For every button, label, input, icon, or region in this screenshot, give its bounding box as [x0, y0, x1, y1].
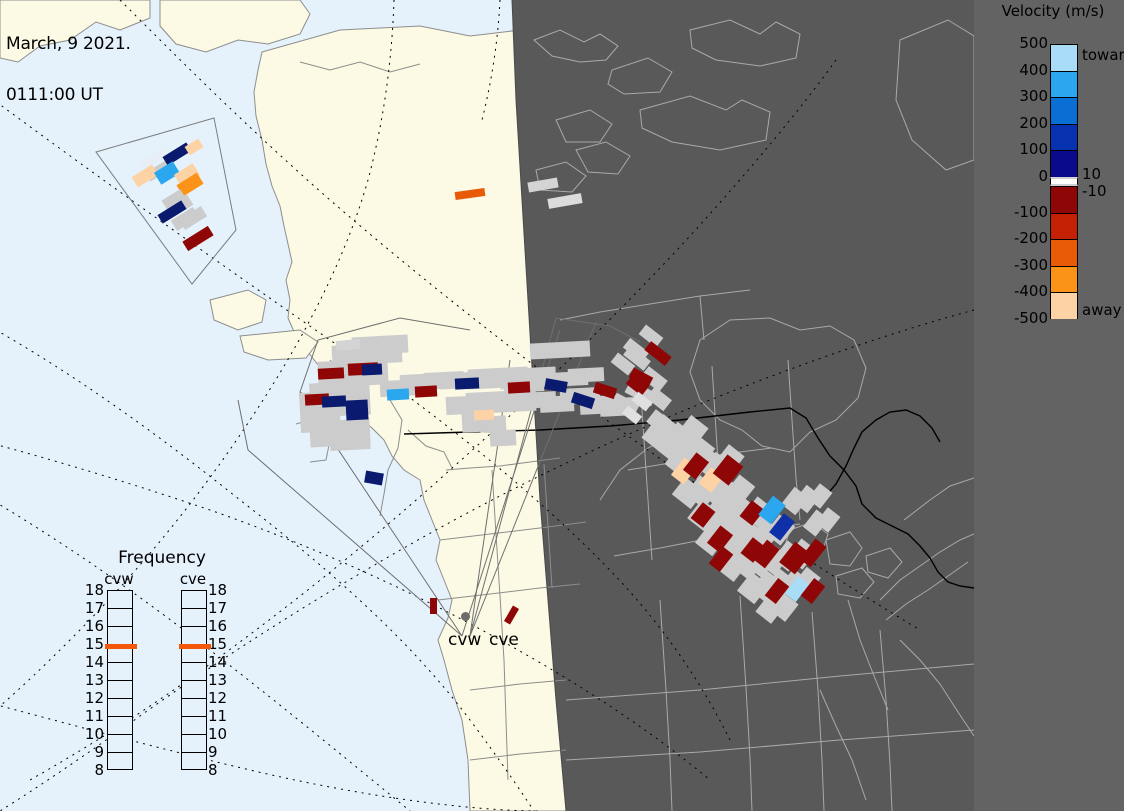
- frequency-tick-17: 17: [84, 601, 104, 616]
- frequency-tick-10: 10: [208, 727, 228, 742]
- frequency-ticks-cve: 18171615141312111098: [208, 590, 228, 770]
- frequency-scale-cve[interactable]: [181, 590, 207, 770]
- frequency-tick-13: 13: [84, 673, 104, 688]
- radar-label-cvw: cvw: [448, 630, 481, 650]
- title-time: 0111:00 UT: [6, 87, 131, 104]
- colorbar-panel: Velocity (m/s) 5004003002001000-100-200-…: [974, 0, 1124, 811]
- velocity-gate-cell[interactable]: [430, 598, 437, 614]
- colorbar-tick--400: -400: [984, 284, 1048, 299]
- colorbar-band-150: [1050, 124, 1078, 151]
- colorbar-band--350: [1050, 266, 1078, 293]
- frequency-tick-12: 12: [208, 691, 228, 706]
- colorbar-band--50: [1050, 186, 1078, 213]
- colorbar-tick-0: 0: [984, 169, 1048, 184]
- map-panel[interactable]: cvw cve Frequency cvw: [0, 0, 974, 811]
- frequency-tick-14: 14: [208, 655, 228, 670]
- colorbar-band-50: [1050, 150, 1078, 177]
- velocity-gate-cell[interactable]: [415, 385, 438, 397]
- colorbar-side-labels: toward10-10away: [1082, 0, 1124, 811]
- colorbar-inner-pos-label: 10: [1082, 167, 1101, 182]
- colorbar-band-450: [1050, 44, 1078, 71]
- colorbar-tick-400: 400: [984, 63, 1048, 78]
- colorbar-tick-300: 300: [984, 89, 1048, 104]
- velocity-gate-cell[interactable]: [474, 409, 494, 420]
- colorbar-tick-500: 500: [984, 36, 1048, 51]
- frequency-ticks-cvw: 18171615141312111098: [84, 590, 104, 770]
- frequency-tick-15: 15: [84, 637, 104, 652]
- frequency-tick-15: 15: [208, 637, 228, 652]
- colorbar-tick--200: -200: [984, 231, 1048, 246]
- velocity-gate-cell[interactable]: [322, 395, 347, 407]
- colorbar-tick--500: -500: [984, 311, 1048, 326]
- frequency-tick-13: 13: [208, 673, 228, 688]
- frequency-tick-18: 18: [84, 583, 104, 598]
- frequency-tick-14: 14: [84, 655, 104, 670]
- frequency-tick-17: 17: [208, 601, 228, 616]
- colorbar-toward-label: toward: [1082, 48, 1124, 63]
- radar-label-cve: cve: [489, 630, 519, 650]
- frequency-column-cvw: cvw 18171615141312111098: [86, 570, 152, 798]
- frequency-legend: Frequency cvw 18171615141312111098: [86, 548, 238, 798]
- colorbar-band-250: [1050, 97, 1078, 124]
- frequency-tick-8: 8: [84, 763, 104, 778]
- frequency-tick-8: 8: [208, 763, 228, 778]
- frequency-tick-18: 18: [208, 583, 228, 598]
- title-date: March, 9 2021.: [6, 36, 131, 53]
- colorbar-band--250: [1050, 239, 1078, 266]
- colorbar-inner-neg-label: -10: [1082, 184, 1107, 199]
- frequency-tick-11: 11: [208, 709, 228, 724]
- frequency-tick-16: 16: [208, 619, 228, 634]
- frequency-legend-title: Frequency: [86, 548, 238, 568]
- colorbar-band-350: [1050, 71, 1078, 98]
- velocity-gate-cell[interactable]: [318, 367, 345, 379]
- superdarn-fan-plot: cvw cve Frequency cvw: [0, 0, 1124, 811]
- velocity-gate-cell[interactable]: [362, 363, 383, 375]
- frequency-column-cve: cve 18171615141312111098: [160, 570, 226, 798]
- frequency-marker-cve: [179, 644, 211, 649]
- colorbar-tick--100: -100: [984, 205, 1048, 220]
- colorbar-tick--300: -300: [984, 258, 1048, 273]
- velocity-gate-cell[interactable]: [508, 381, 531, 393]
- frequency-tick-16: 16: [84, 619, 104, 634]
- frequency-tick-11: 11: [84, 709, 104, 724]
- frequency-tick-10: 10: [84, 727, 104, 742]
- colorbar-scale[interactable]: [1050, 44, 1078, 319]
- velocity-gate-cell[interactable]: [455, 377, 480, 389]
- velocity-gate-cell[interactable]: [387, 388, 410, 400]
- frequency-tick-9: 9: [208, 745, 228, 760]
- timestamp-title: March, 9 2021. 0111:00 UT: [6, 2, 131, 138]
- velocity-gate-cell[interactable]: [336, 339, 361, 351]
- colorbar-band--150: [1050, 213, 1078, 240]
- colorbar-tick-labels: 5004003002001000-100-200-300-400-500: [976, 0, 1048, 811]
- frequency-marker-cvw: [105, 644, 137, 649]
- velocity-gate-cell[interactable]: [345, 399, 368, 420]
- frequency-tick-9: 9: [84, 745, 104, 760]
- colorbar-away-label: away: [1082, 303, 1122, 318]
- frequency-tick-12: 12: [84, 691, 104, 706]
- colorbar-band-0: [1050, 177, 1078, 186]
- radar-site-marker[interactable]: [461, 612, 470, 621]
- frequency-scale-cvw[interactable]: [107, 590, 133, 770]
- no-data-gate-cell: [530, 340, 591, 359]
- colorbar-tick-200: 200: [984, 116, 1048, 131]
- colorbar-tick-100: 100: [984, 142, 1048, 157]
- colorbar-band--450: [1050, 292, 1078, 319]
